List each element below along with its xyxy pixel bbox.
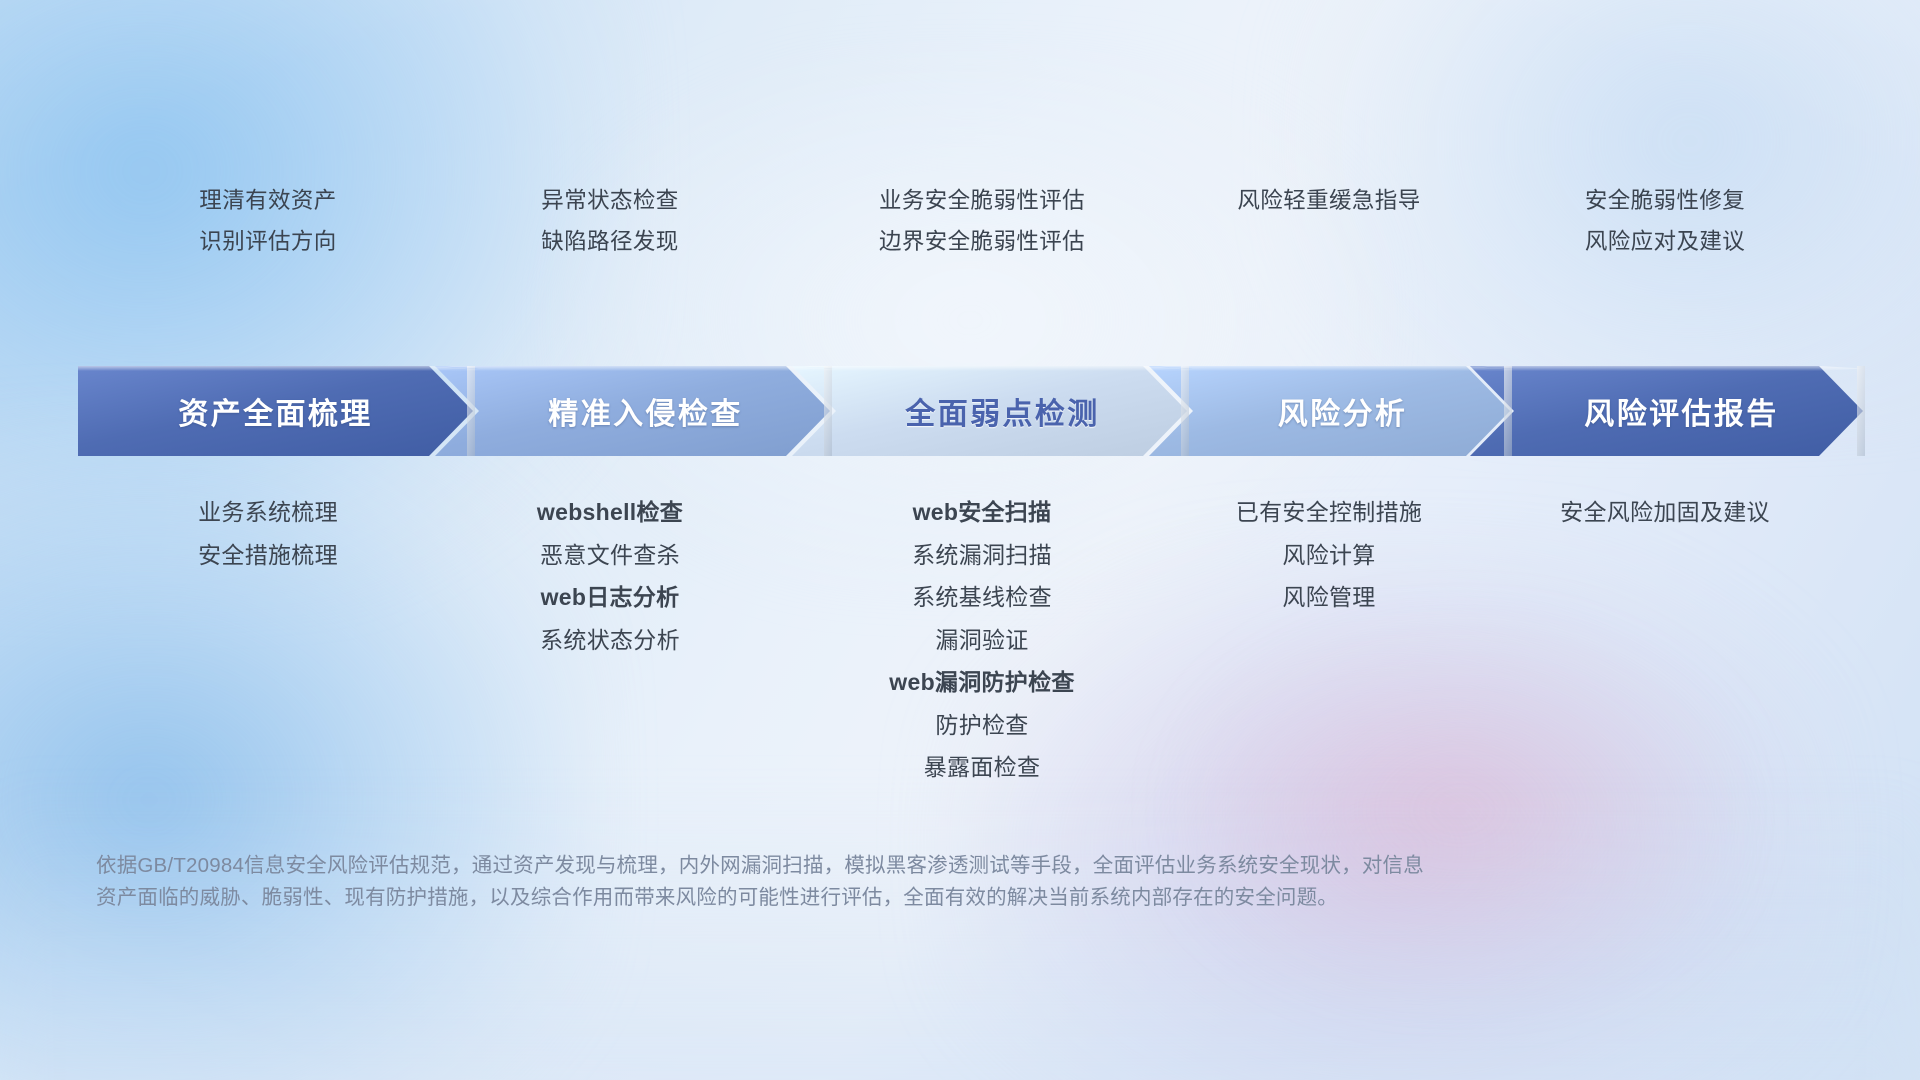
bottom-label: 漏洞验证	[935, 626, 1028, 654]
top-label: 识别评估方向	[199, 227, 336, 258]
stage-5-label: 风险评估报告	[1584, 389, 1778, 433]
bottom-label: 业务系统梳理	[198, 498, 338, 526]
process-stage-5[interactable]: 风险评估报告	[1470, 366, 1863, 456]
bottom-label: 系统状态分析	[540, 626, 680, 654]
stage-3-top-labels: 业务安全脆弱性评估边界安全脆弱性评估	[782, 186, 1182, 257]
process-stage-3[interactable]: 全面弱点检测	[792, 366, 1187, 456]
stage-5-bottom-labels: 安全风险加固及建议	[1465, 498, 1865, 526]
bottom-label: 系统漏洞扫描	[912, 541, 1052, 569]
process-diagram: 理清有效资产识别评估方向异常状态检查缺陷路径发现业务安全脆弱性评估边界安全脆弱性…	[0, 0, 1920, 1080]
bottom-label: 恶意文件查杀	[540, 541, 680, 569]
stage-4-label: 风险分析	[1278, 389, 1408, 433]
top-label: 理清有效资产	[199, 186, 336, 217]
top-label: 风险应对及建议	[1585, 227, 1745, 258]
footer-line-2: 资产面临的威胁、脆弱性、现有防护措施，以及综合作用而带来风险的可能性进行评估，全…	[96, 882, 1636, 914]
stage-2-bottom-labels: webshell检查恶意文件查杀web日志分析系统状态分析	[430, 498, 790, 654]
stage-5-top-labels: 安全脆弱性修复风险应对及建议	[1465, 186, 1865, 257]
bottom-label: 暴露面检查	[924, 753, 1041, 781]
stage-3-bottom-labels: web安全扫描系统漏洞扫描系统基线检查漏洞验证web漏洞防护检查防护检查暴露面检…	[782, 498, 1182, 781]
stage-4-bottom-labels: 已有安全控制措施风险计算风险管理	[1149, 498, 1509, 611]
process-stage-2[interactable]: 精准入侵检查	[435, 366, 830, 456]
top-label: 异常状态检查	[541, 186, 678, 217]
bottom-label: 防护检查	[935, 711, 1028, 739]
top-label: 风险轻重缓急指导	[1237, 186, 1420, 217]
bottom-label: 安全措施梳理	[198, 541, 338, 569]
process-stage-1[interactable]: 资产全面梳理	[78, 366, 473, 456]
process-stage-4[interactable]: 风险分析	[1149, 366, 1510, 456]
bottom-label: 系统基线检查	[912, 583, 1052, 611]
top-label: 业务安全脆弱性评估	[879, 186, 1085, 217]
stage-1-label: 资产全面梳理	[178, 389, 372, 433]
top-label-row: 理清有效资产识别评估方向异常状态检查缺陷路径发现业务安全脆弱性评估边界安全脆弱性…	[0, 186, 1920, 296]
bottom-label: web漏洞防护检查	[889, 668, 1074, 696]
bottom-label: 已有安全控制措施	[1236, 498, 1422, 526]
bottom-label-row: 业务系统梳理安全措施梳理webshell检查恶意文件查杀web日志分析系统状态分…	[0, 498, 1920, 818]
bottom-label: 风险管理	[1282, 583, 1375, 611]
stage-1-top-labels: 理清有效资产识别评估方向	[88, 186, 448, 257]
footer-description: 依据GB/T20984信息安全风险评估规范，通过资产发现与梳理，内外网漏洞扫描，…	[96, 850, 1636, 914]
bottom-label: web日志分析	[541, 583, 680, 611]
stage-4-top-labels: 风险轻重缓急指导	[1149, 186, 1509, 217]
bottom-label: webshell检查	[537, 498, 683, 526]
stage-1-bottom-labels: 业务系统梳理安全措施梳理	[88, 498, 448, 569]
bottom-label: 风险计算	[1282, 541, 1375, 569]
top-label: 安全脆弱性修复	[1585, 186, 1745, 217]
stage-3-label: 全面弱点检测	[905, 389, 1099, 433]
top-label: 缺陷路径发现	[541, 227, 678, 258]
bottom-label: web安全扫描	[913, 498, 1052, 526]
footer-line-1: 依据GB/T20984信息安全风险评估规范，通过资产发现与梳理，内外网漏洞扫描，…	[96, 850, 1636, 882]
chevron-process-band: 资产全面梳理精准入侵检查全面弱点检测风险分析风险评估报告	[78, 366, 1863, 456]
stage-2-label: 精准入侵检查	[548, 389, 742, 433]
top-label: 边界安全脆弱性评估	[879, 227, 1085, 258]
bottom-label: 安全风险加固及建议	[1560, 498, 1770, 526]
stage-2-top-labels: 异常状态检查缺陷路径发现	[430, 186, 790, 257]
